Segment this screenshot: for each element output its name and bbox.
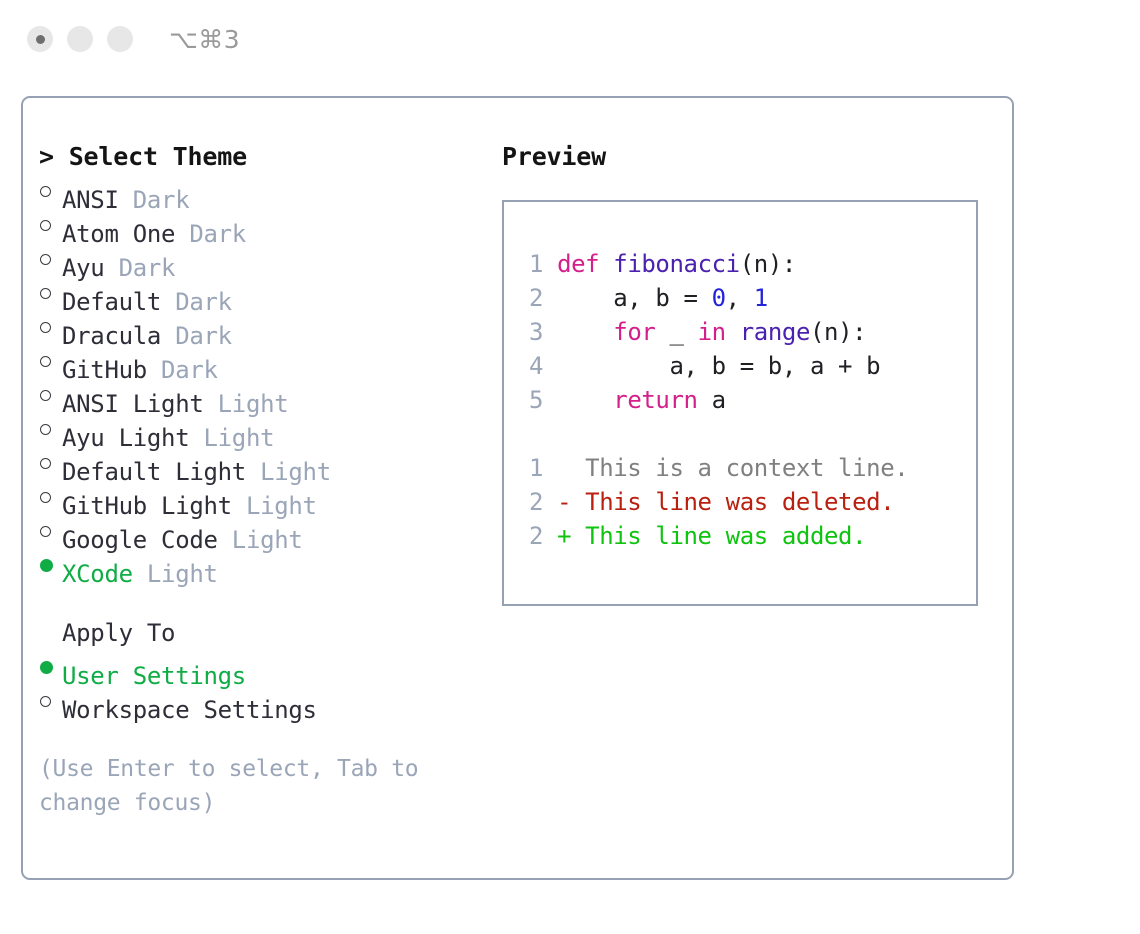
theme-option-tag: Light	[189, 421, 274, 455]
diff-line-ctx: 1 This is a context line.	[517, 451, 908, 485]
diff-line-del: 2 - This line was deleted.	[517, 485, 908, 519]
code-line-number: 1	[517, 247, 543, 281]
code-token: a	[698, 386, 726, 414]
code-line-number: 3	[517, 315, 543, 349]
radio-unselected-icon	[39, 412, 62, 446]
code-line: 5 return a	[517, 383, 908, 417]
theme-option-name: Google Code	[62, 523, 218, 557]
radio-unselected-icon	[39, 684, 62, 718]
diff-line-number: 2	[517, 485, 543, 519]
radio-unselected-icon	[39, 276, 62, 310]
title-bar: ⌥⌘3	[0, 0, 1140, 78]
diff-line-text: + This line was added.	[557, 522, 866, 550]
theme-option-tag: Light	[204, 387, 289, 421]
keyboard-shortcut-label: ⌥⌘3	[169, 25, 240, 54]
code-gap	[517, 417, 908, 451]
theme-option-name: Dracula	[62, 319, 161, 353]
select-theme-header: > Select Theme	[39, 140, 494, 174]
diff-line-add: 2 + This line was added.	[517, 519, 908, 553]
theme-option-name: Default Light	[62, 455, 246, 489]
code-line: 1 def fibonacci(n):	[517, 247, 908, 281]
radio-unselected-icon	[39, 208, 62, 242]
theme-option-name: ANSI Light	[62, 387, 204, 421]
theme-option-tag: Dark	[104, 251, 175, 285]
theme-option-tag: Light	[246, 455, 331, 489]
preview-pane: Preview 1 def fibonacci(n):2 a, b = 0, 1…	[502, 140, 992, 606]
window-controls	[27, 26, 133, 52]
theme-option-name: GitHub	[62, 353, 147, 387]
theme-option-ansi[interactable]: ANSI Dark	[39, 174, 494, 208]
theme-option-tag: Light	[232, 489, 317, 523]
theme-option-tag: Dark	[119, 183, 190, 217]
traffic-light-close[interactable]	[27, 26, 53, 52]
radio-unselected-icon	[39, 378, 62, 412]
radio-unselected-icon	[39, 480, 62, 514]
code-token	[726, 318, 740, 346]
apply-option-name: User Settings	[62, 659, 246, 693]
app-window: ⌥⌘3 > Select Theme ANSI DarkAtom One Dar…	[0, 0, 1140, 934]
theme-selector-card: > Select Theme ANSI DarkAtom One DarkAyu…	[21, 96, 1014, 880]
code-token: for	[613, 318, 655, 346]
diff-line-text: - This line was deleted.	[557, 488, 894, 516]
code-token: def	[557, 250, 599, 278]
traffic-light-maximize[interactable]	[107, 26, 133, 52]
code-token: fibonacci	[613, 250, 739, 278]
traffic-light-minimize[interactable]	[67, 26, 93, 52]
apply-option-user-settings[interactable]: User Settings	[39, 650, 494, 684]
theme-option-tag: Light	[218, 523, 303, 557]
code-token: (n):	[810, 318, 866, 346]
code-token	[557, 318, 613, 346]
code-preview: 1 def fibonacci(n):2 a, b = 0, 13 for _ …	[517, 247, 908, 553]
theme-option-name: Atom One	[62, 217, 175, 251]
code-token: a, b = b, a + b	[557, 352, 880, 380]
preview-title: Preview	[502, 140, 992, 174]
code-token	[557, 386, 613, 414]
theme-option-name: Ayu Light	[62, 421, 189, 455]
theme-option-tag: Dark	[161, 319, 232, 353]
code-token: return	[613, 386, 697, 414]
code-line: 3 for _ in range(n):	[517, 315, 908, 349]
radio-unselected-icon	[39, 446, 62, 480]
code-token: 0	[712, 284, 726, 312]
theme-list-pane: > Select Theme ANSI DarkAtom One DarkAyu…	[39, 140, 494, 820]
radio-unselected-icon	[39, 344, 62, 378]
code-token: _	[655, 318, 697, 346]
diff-line-number: 2	[517, 519, 543, 553]
theme-option-name: Default	[62, 285, 161, 319]
radio-unselected-icon	[39, 514, 62, 548]
apply-option-name: Workspace Settings	[62, 693, 317, 727]
code-token: ,	[726, 284, 754, 312]
code-line: 2 a, b = 0, 1	[517, 281, 908, 315]
theme-option-list: ANSI DarkAtom One DarkAyu DarkDefault Da…	[39, 174, 494, 582]
theme-option-tag: Light	[133, 557, 218, 591]
theme-option-name: Ayu	[62, 251, 104, 285]
code-token: in	[698, 318, 726, 346]
code-token: a, b =	[557, 284, 712, 312]
apply-to-option-list: User SettingsWorkspace Settings	[39, 650, 494, 718]
theme-option-tag: Dark	[175, 217, 246, 251]
code-token: range	[740, 318, 810, 346]
radio-selected-icon	[39, 548, 62, 582]
radio-unselected-icon	[39, 242, 62, 276]
preview-box: 1 def fibonacci(n):2 a, b = 0, 13 for _ …	[502, 200, 978, 606]
theme-option-tag: Dark	[147, 353, 218, 387]
theme-option-name: ANSI	[62, 183, 119, 217]
diff-line-text: This is a context line.	[557, 454, 908, 482]
panes: > Select Theme ANSI DarkAtom One DarkAyu…	[23, 98, 1012, 878]
radio-unselected-icon	[39, 174, 62, 208]
code-line: 4 a, b = b, a + b	[517, 349, 908, 383]
apply-to-label: Apply To	[39, 616, 494, 650]
radio-selected-icon	[39, 650, 62, 684]
code-line-number: 5	[517, 383, 543, 417]
theme-option-name: XCode	[62, 557, 133, 591]
code-line-number: 4	[517, 349, 543, 383]
traffic-light-dot-icon	[36, 35, 45, 44]
radio-unselected-icon	[39, 310, 62, 344]
code-token: (n):	[740, 250, 796, 278]
keyboard-hint-text: (Use Enter to select, Tab to change focu…	[39, 752, 459, 820]
code-token: 1	[754, 284, 768, 312]
diff-line-number: 1	[517, 451, 543, 485]
theme-option-tag: Dark	[161, 285, 232, 319]
theme-option-name: GitHub Light	[62, 489, 232, 523]
code-token	[599, 250, 613, 278]
code-line-number: 2	[517, 281, 543, 315]
